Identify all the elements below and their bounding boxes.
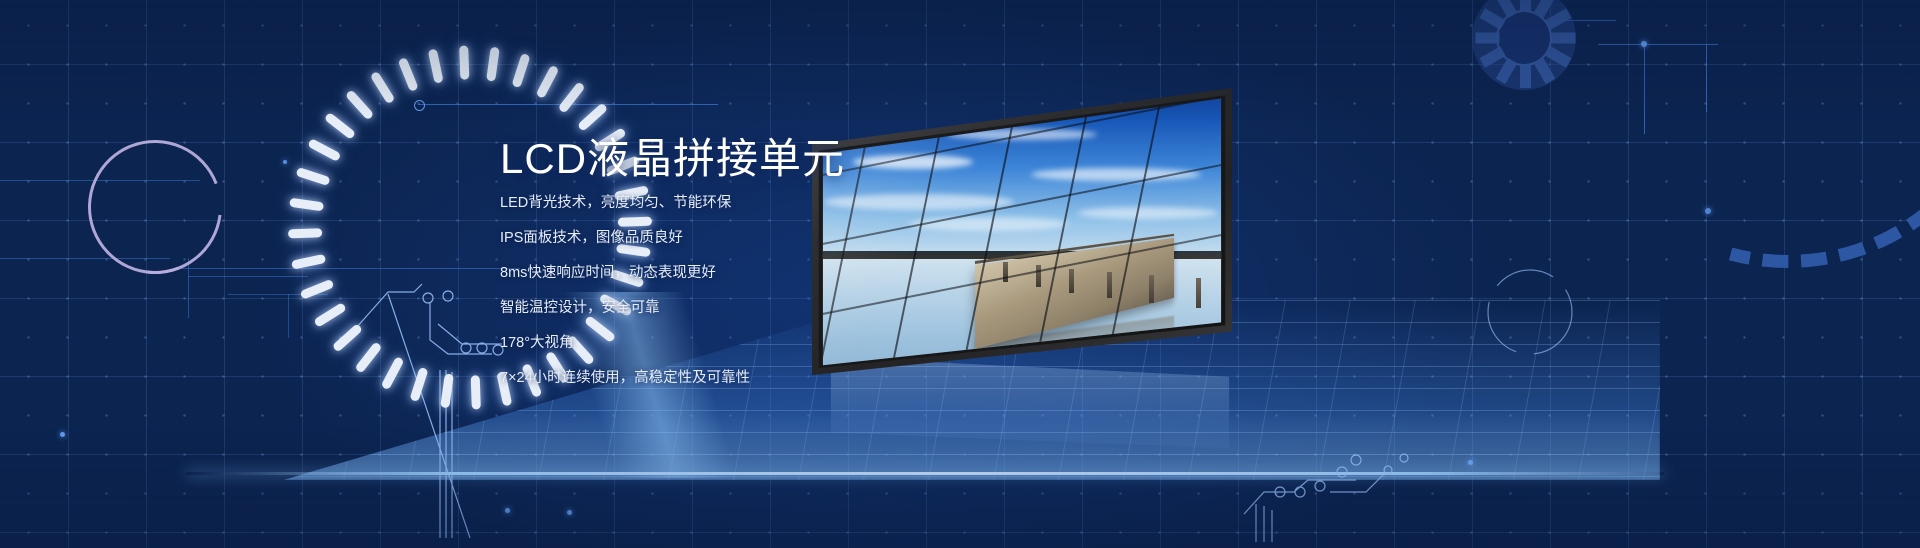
cog-tooth (1520, 64, 1531, 88)
blueprint-node-icon (414, 100, 425, 111)
blueprint-dot-bottom3-icon (567, 510, 572, 515)
circuit-trace-right-icon (1238, 452, 1468, 548)
feature-item: LED背光技术，亮度均匀、节能环保 (500, 190, 1020, 216)
feature-item: 178°大视角 (500, 330, 1020, 356)
feature-item: 智能温控设计，安全可靠 (500, 295, 1020, 321)
blueprint-dot-left-icon (283, 160, 287, 164)
feature-item: 7×24小时连续使用，高稳定性及可靠性 (500, 365, 1020, 391)
feature-item: IPS面板技术，图像品质良好 (500, 225, 1020, 251)
banner-title: LCD液晶拼接单元 (500, 138, 845, 180)
cog-tooth (1476, 33, 1500, 44)
blueprint-line-left-e (188, 276, 308, 277)
feature-item: 8ms快速响应时间，动态表现更好 (500, 260, 1020, 286)
cog-tooth (1520, 0, 1531, 12)
blueprint-line-left-g (288, 294, 289, 338)
circuit-ring-right-icon (1470, 252, 1590, 372)
blueprint-line-left-d (188, 258, 189, 318)
feature-list: LED背光技术，亮度均匀、节能环保 IPS面板技术，图像品质良好 8ms快速响应… (500, 190, 1020, 400)
blueprint-dot-bottom-icon (60, 432, 65, 437)
lcd-video-wall-banner: LCD液晶拼接单元 LED背光技术，亮度均匀、节能环保 IPS面板技术，图像品质… (0, 0, 1920, 548)
